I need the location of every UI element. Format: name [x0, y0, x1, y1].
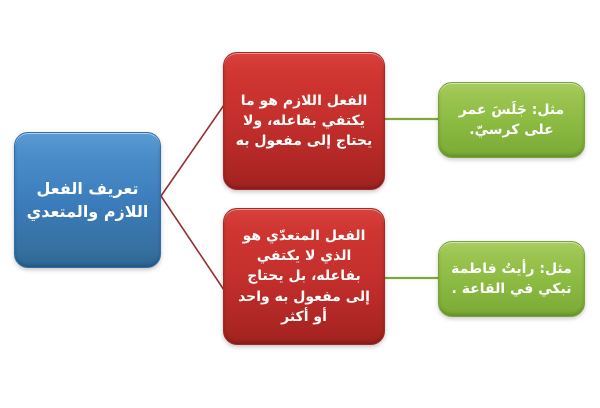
example-node-transitive-verb-label: مثل: رأيتُ فاطمة تبكي في القاعة .	[449, 259, 574, 300]
branch-node-intransitive-verb-label: الفعل اللازم هو ما يكتفي بفاعله، ولا يحت…	[234, 91, 374, 152]
example-node-transitive-verb[interactable]: مثل: رأيتُ فاطمة تبكي في القاعة .	[438, 241, 585, 317]
root-node-label: تعريف الفعل اللازم والمتعدي	[25, 177, 150, 223]
connector-root-to-mutaaddi	[161, 196, 224, 290]
branch-node-intransitive-verb[interactable]: الفعل اللازم هو ما يكتفي بفاعله، ولا يحت…	[223, 52, 385, 190]
branch-node-transitive-verb[interactable]: الفعل المتعدّي هو الذي لا يكتفي بفاعله، …	[223, 208, 385, 345]
connector-root-to-lazim	[161, 105, 224, 196]
root-node-definition[interactable]: تعريف الفعل اللازم والمتعدي	[14, 132, 161, 268]
example-node-intransitive-verb[interactable]: مثل: جَلَسَ عمر على كرسيّ.	[438, 82, 585, 158]
diagram-canvas: تعريف الفعل اللازم والمتعدي الفعل اللازم…	[0, 0, 600, 408]
example-node-intransitive-verb-label: مثل: جَلَسَ عمر على كرسيّ.	[449, 100, 574, 141]
branch-node-transitive-verb-label: الفعل المتعدّي هو الذي لا يكتفي بفاعله، …	[234, 226, 374, 327]
